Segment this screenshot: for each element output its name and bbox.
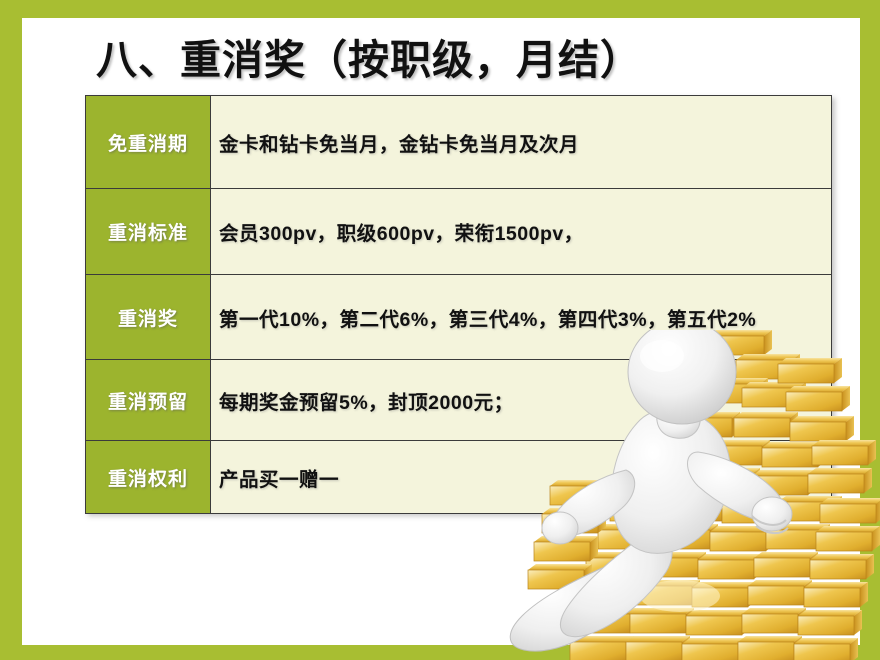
table-row: 重消权利 产品买一赠一 [86,441,832,514]
row-content-mian-zhong-xiao-qi: 金卡和钻卡免当月，金钻卡免当月及次月 [211,96,832,189]
row-content-zhong-xiao-yu-liu: 每期奖金预留5%，封顶2000元； [211,360,832,441]
row-content-zhong-xiao-quan-li: 产品买一赠一 [211,441,832,514]
row-content-zhong-xiao-biao-zhun: 会员300pv，职级600pv，荣衔1500pv， [211,189,832,275]
table-row: 重消奖 第一代10%，第二代6%，第三代4%，第四代3%，第五代2% [86,275,832,360]
table-row: 免重消期 金卡和钻卡免当月，金钻卡免当月及次月 [86,96,832,189]
page-title: 八、重消奖（按职级，月结） [96,26,642,86]
row-label-mian-zhong-xiao-qi: 免重消期 [86,96,211,189]
bonus-table: 免重消期 金卡和钻卡免当月，金钻卡免当月及次月 重消标准 会员300pv，职级6… [85,95,832,514]
row-label-zhong-xiao-biao-zhun: 重消标准 [86,189,211,275]
row-label-zhong-xiao-jiang: 重消奖 [86,275,211,360]
row-label-zhong-xiao-quan-li: 重消权利 [86,441,211,514]
slide-canvas: 八、重消奖（按职级，月结） 免重消期 金卡和钻卡免当月，金钻卡免当月及次月 重消… [0,0,880,660]
table-row: 重消预留 每期奖金预留5%，封顶2000元； [86,360,832,441]
row-label-zhong-xiao-yu-liu: 重消预留 [86,360,211,441]
table-row: 重消标准 会员300pv，职级600pv，荣衔1500pv， [86,189,832,275]
bonus-table-container: 免重消期 金卡和钻卡免当月，金钻卡免当月及次月 重消标准 会员300pv，职级6… [85,95,832,513]
row-content-zhong-xiao-jiang: 第一代10%，第二代6%，第三代4%，第四代3%，第五代2% [211,275,832,360]
